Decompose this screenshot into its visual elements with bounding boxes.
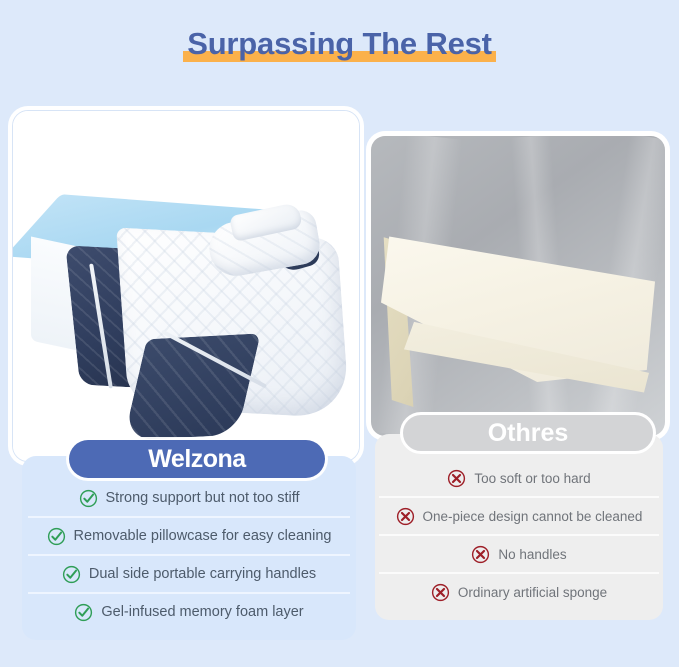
brand-badge-label: Othres [488, 419, 569, 448]
list-item: Gel-infused memory foam layer [28, 592, 350, 630]
brand-badge-others: Othres [400, 412, 656, 454]
feature-list-welzona: Strong support but not too stiff Removab… [22, 456, 356, 640]
cross-icon [431, 583, 450, 602]
check-icon [47, 527, 66, 546]
list-item: Strong support but not too stiff [28, 480, 350, 516]
check-icon [62, 565, 81, 584]
list-item-label: One-piece design cannot be cleaned [423, 509, 643, 524]
check-icon [74, 603, 93, 622]
title-text: Surpassing The Rest [187, 26, 492, 61]
cross-icon [396, 507, 415, 526]
product-image-card-others [371, 136, 665, 436]
list-item-label: Gel-infused memory foam layer [101, 604, 303, 620]
page-title: Surpassing The Rest [0, 24, 679, 74]
list-item-label: Removable pillowcase for easy cleaning [74, 528, 332, 544]
cross-icon [471, 545, 490, 564]
product-image-card-welzona [12, 110, 360, 462]
list-item: Removable pillowcase for easy cleaning [28, 516, 350, 554]
list-item-label: No handles [498, 547, 566, 562]
list-item: Dual side portable carrying handles [28, 554, 350, 592]
brand-badge-label: Welzona [148, 445, 245, 474]
list-item-label: Too soft or too hard [474, 471, 590, 486]
list-item-label: Ordinary artificial sponge [458, 585, 607, 600]
feature-list-others: Too soft or too hard One-piece design ca… [375, 434, 663, 620]
list-item: No handles [379, 534, 659, 572]
product-illustration-others [371, 136, 665, 436]
product-illustration-welzona [13, 111, 359, 461]
brand-badge-welzona: Welzona [69, 440, 325, 478]
list-item: Too soft or too hard [379, 460, 659, 496]
list-item: One-piece design cannot be cleaned [379, 496, 659, 534]
list-item-label: Dual side portable carrying handles [89, 566, 316, 582]
cross-icon [447, 469, 466, 488]
list-item: Ordinary artificial sponge [379, 572, 659, 610]
list-item-label: Strong support but not too stiff [106, 490, 300, 506]
check-icon [79, 489, 98, 508]
